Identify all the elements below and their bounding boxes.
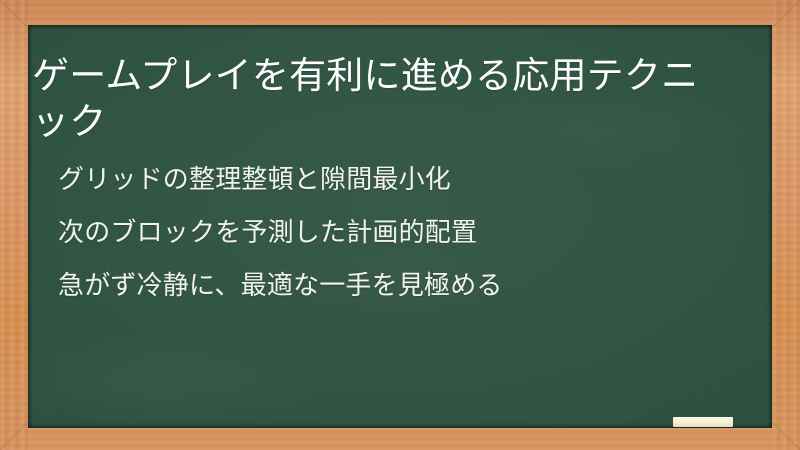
wood-frame-left-rail — [0, 0, 28, 450]
slide-bullet-list: グリッドの整理整頓と隙間最小化 次のブロックを予測した計画的配置 急がず冷静に、… — [58, 153, 738, 312]
chalkboard-slide: ゲームプレイを有利に進める応用テクニック グリッドの整理整頓と隙間最小化 次のブ… — [0, 0, 800, 450]
slide-title: ゲームプレイを有利に進める応用テクニック — [32, 53, 732, 145]
list-item: 急がず冷静に、最適な一手を見極める — [58, 259, 738, 312]
chalkboard-surface: ゲームプレイを有利に進める応用テクニック グリッドの整理整頓と隙間最小化 次のブ… — [28, 25, 772, 428]
list-item: グリッドの整理整頓と隙間最小化 — [58, 153, 738, 206]
wood-frame-right-rail — [772, 0, 800, 450]
list-item: 次のブロックを予測した計画的配置 — [58, 206, 738, 259]
chalk-stick-icon — [673, 417, 733, 427]
